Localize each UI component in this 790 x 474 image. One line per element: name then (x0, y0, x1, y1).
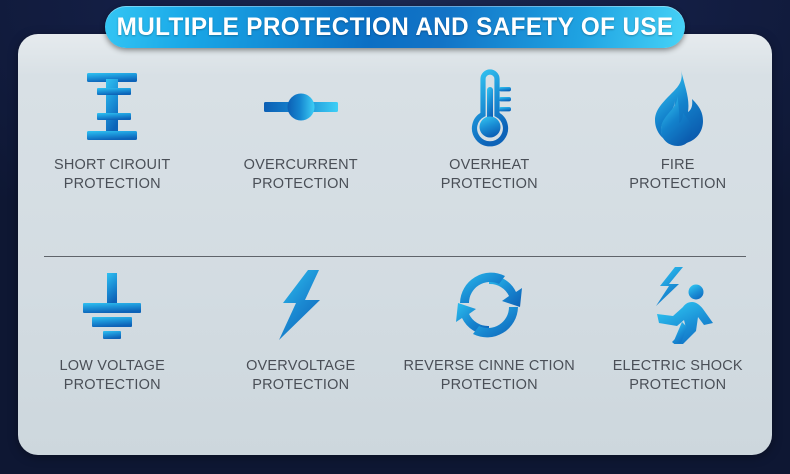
feature-label: FIRE PROTECTION (629, 156, 726, 194)
feature-label: LOW VOLTAGE PROTECTION (59, 357, 165, 395)
features-row-2: LOW VOLTAGE PROTECTION OVERVOLTAGE PROTE… (18, 257, 772, 455)
i-beam-short-circuit-icon (81, 64, 143, 150)
reverse-arrows-icon (451, 263, 527, 347)
electric-shock-person-icon (642, 263, 714, 347)
page-title: MULTIPLE PROTECTION AND SAFETY OF USE (117, 13, 674, 42)
fuse-overcurrent-icon (262, 64, 340, 150)
feature-label: ELECTRIC SHOCK PROTECTION (613, 357, 743, 395)
feature-item-overheat[interactable]: OVERHEAT PROTECTION (395, 58, 584, 194)
feature-label: REVERSE CINNE CTION PROTECTION (404, 357, 575, 395)
feature-item-overcurrent[interactable]: OVERCURRENT PROTECTION (207, 58, 396, 194)
feature-label: OVERVOLTAGE PROTECTION (246, 357, 355, 395)
feature-item-electric-shock[interactable]: ELECTRIC SHOCK PROTECTION (584, 257, 773, 395)
row-divider (44, 256, 746, 257)
feature-item-short-circuit[interactable]: SHORT CIROUIT PROTECTION (18, 58, 207, 194)
feature-item-overvoltage[interactable]: OVERVOLTAGE PROTECTION (207, 257, 396, 395)
features-row-1: SHORT CIROUIT PROTECTION OVERCURRENT (18, 58, 772, 256)
feature-item-fire[interactable]: FIRE PROTECTION (584, 58, 773, 194)
feature-item-low-voltage[interactable]: LOW VOLTAGE PROTECTION (18, 257, 207, 395)
feature-label: OVERHEAT PROTECTION (441, 156, 538, 194)
header-badge: MULTIPLE PROTECTION AND SAFETY OF USE (105, 6, 685, 48)
features-grid: SHORT CIROUIT PROTECTION OVERCURRENT (18, 34, 772, 455)
thermometer-overheat-icon (461, 64, 517, 150)
flame-fire-icon (647, 64, 709, 150)
feature-item-reverse-connection[interactable]: REVERSE CINNE CTION PROTECTION (395, 257, 584, 395)
feature-label: SHORT CIROUIT PROTECTION (54, 156, 170, 194)
ground-earth-icon (77, 263, 147, 347)
lightning-bolt-icon (275, 263, 327, 347)
feature-label: OVERCURRENT PROTECTION (244, 156, 358, 194)
